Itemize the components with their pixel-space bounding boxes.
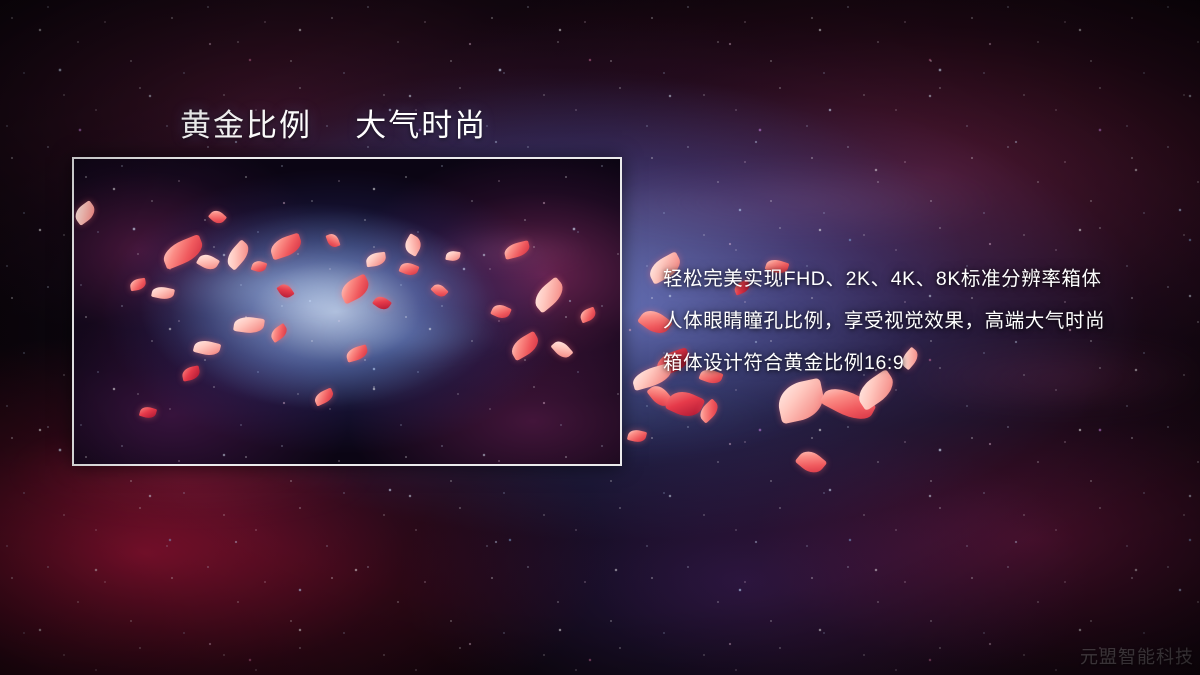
body-line-2: 人体眼睛瞳孔比例，享受视觉效果，高端大气时尚 (663, 300, 1183, 342)
slide-canvas: 黄金比例 大气时尚 (0, 0, 1200, 675)
watermark: 元盟智能科技 (1080, 643, 1194, 669)
title-part-one: 黄金比例 (180, 108, 312, 143)
body-line-1: 轻松完美实现FHD、2K、4K、8K标准分辨率箱体 (663, 258, 1183, 300)
body-line-3: 箱体设计符合黄金比例16:9 (663, 342, 1183, 384)
framed-image (72, 157, 622, 466)
title-part-two: 大气时尚 (355, 108, 487, 143)
framed-image-content (74, 159, 620, 464)
page-title: 黄金比例 大气时尚 (180, 100, 487, 145)
framed-starfield-bright (74, 159, 620, 464)
body-text-block: 轻松完美实现FHD、2K、4K、8K标准分辨率箱体 人体眼睛瞳孔比例，享受视觉效… (663, 258, 1183, 384)
